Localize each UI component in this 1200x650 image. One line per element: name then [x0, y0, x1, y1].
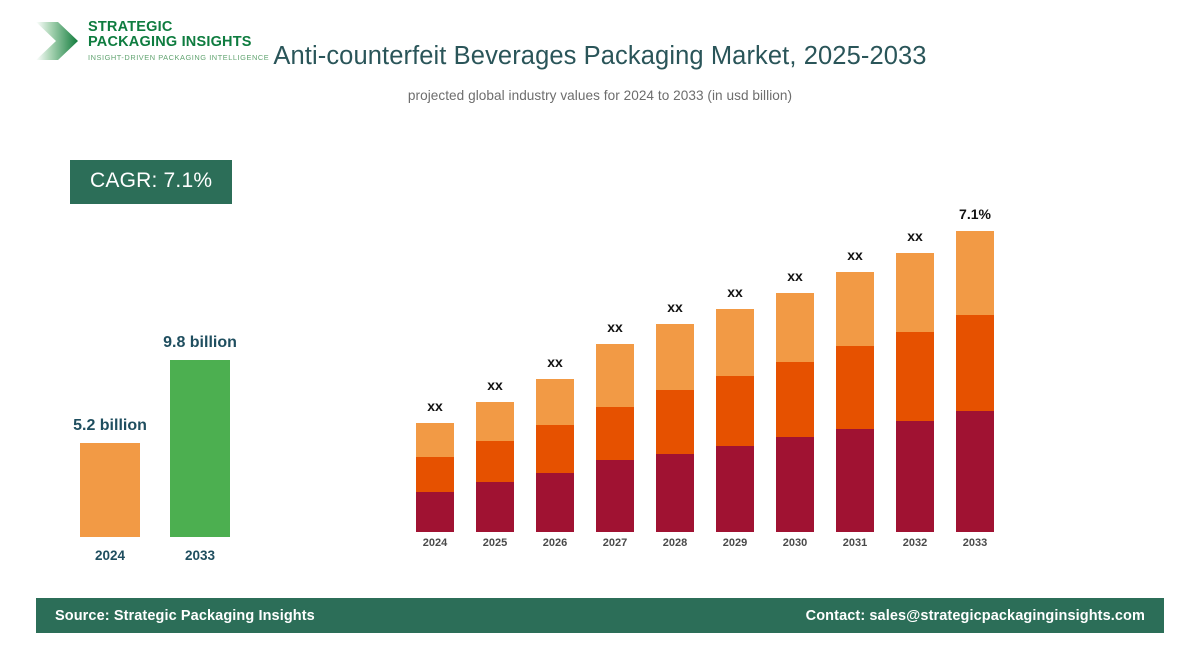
- comparison-year-label-2024: 2024: [60, 548, 160, 563]
- column-segment-segment-3-2029: [716, 309, 754, 376]
- column-segment-segment-3-2030: [776, 293, 814, 362]
- page-title: Anti-counterfeit Beverages Packaging Mar…: [250, 40, 950, 74]
- column-value-label-2029: xx: [727, 284, 743, 300]
- column-segment-segment-1-2024: [416, 492, 454, 532]
- column-value-label-2031: xx: [847, 247, 863, 263]
- column-year-label-2029: 2029: [723, 537, 747, 549]
- yearly-stacked-forecast-chart: xx2024xx2025xx2026xx2027xx2028xx2029xx20…: [405, 195, 1005, 560]
- column-segment-segment-2-2026: [536, 425, 574, 473]
- brand-name-line1: STRATEGIC: [88, 20, 269, 35]
- column-value-label-2025: xx: [487, 377, 503, 393]
- column-year-label-2033: 2033: [963, 537, 987, 549]
- column-segment-segment-2-2029: [716, 376, 754, 446]
- cagr-badge: CAGR: 7.1%: [70, 160, 232, 204]
- column-segment-segment-3-2027: [596, 344, 634, 407]
- column-segment-segment-3-2026: [536, 379, 574, 425]
- column-year-label-2032: 2032: [903, 537, 927, 549]
- column-segment-segment-2-2027: [596, 407, 634, 460]
- footer-bar: Source: Strategic Packaging Insights Con…: [36, 598, 1164, 633]
- column-segment-segment-1-2029: [716, 446, 754, 532]
- column-value-label-2030: xx: [787, 268, 803, 284]
- column-segment-segment-3-2031: [836, 272, 874, 346]
- column-year-label-2026: 2026: [543, 537, 567, 549]
- title-block: Anti-counterfeit Beverages Packaging Mar…: [250, 40, 950, 103]
- column-segment-segment-3-2024: [416, 423, 454, 457]
- column-segment-segment-1-2032: [896, 421, 934, 532]
- column-segment-segment-2-2032: [896, 332, 934, 421]
- comparison-value-label-2033: 9.8 billion: [140, 334, 260, 352]
- column-year-label-2031: 2031: [843, 537, 867, 549]
- column-segment-segment-1-2030: [776, 437, 814, 532]
- column-year-label-2025: 2025: [483, 537, 507, 549]
- column-value-label-2026: xx: [547, 354, 563, 370]
- column-year-label-2028: 2028: [663, 537, 687, 549]
- endpoint-comparison-chart: 5.2 billion20249.8 billion2033: [0, 300, 320, 580]
- column-segment-segment-3-2033: [956, 231, 994, 315]
- stacked-column-2026: xx2026: [536, 379, 574, 532]
- page-subtitle: projected global industry values for 202…: [250, 88, 950, 103]
- column-segment-segment-1-2026: [536, 473, 574, 532]
- stacked-column-2030: xx2030: [776, 293, 814, 532]
- column-value-label-2024: xx: [427, 398, 443, 414]
- brand-wordmark: STRATEGIC PACKAGING INSIGHTS INSIGHT-DRI…: [88, 20, 269, 62]
- footer-contact: Contact: sales@strategicpackaginginsight…: [806, 608, 1145, 624]
- brand-name-line2: PACKAGING INSIGHTS: [88, 35, 269, 50]
- column-segment-segment-2-2024: [416, 457, 454, 492]
- column-segment-segment-1-2027: [596, 460, 634, 532]
- stacked-column-2028: xx2028: [656, 324, 694, 532]
- column-segment-segment-3-2028: [656, 324, 694, 390]
- column-segment-segment-1-2025: [476, 482, 514, 532]
- comparison-value-label-2024: 5.2 billion: [50, 417, 170, 435]
- chevron-logo-icon: [34, 16, 80, 66]
- comparison-bar-2033: [170, 360, 230, 537]
- column-value-label-2027: xx: [607, 319, 623, 335]
- stacked-column-2027: xx2027: [596, 344, 634, 532]
- stacked-column-2033: 7.1%2033: [956, 231, 994, 532]
- column-year-label-2024: 2024: [423, 537, 447, 549]
- column-value-label-2032: xx: [907, 228, 923, 244]
- footer-source: Source: Strategic Packaging Insights: [55, 608, 315, 624]
- comparison-year-label-2033: 2033: [150, 548, 250, 563]
- column-year-label-2030: 2030: [783, 537, 807, 549]
- column-segment-segment-2-2028: [656, 390, 694, 454]
- column-segment-segment-3-2032: [896, 253, 934, 332]
- brand-logo: STRATEGIC PACKAGING INSIGHTS INSIGHT-DRI…: [34, 16, 269, 66]
- brand-tagline: INSIGHT-DRIVEN PACKAGING INTELLIGENCE: [88, 54, 269, 62]
- column-value-label-2033: 7.1%: [959, 206, 991, 222]
- column-segment-segment-1-2028: [656, 454, 694, 532]
- stacked-column-2024: xx2024: [416, 423, 454, 532]
- column-segment-segment-2-2025: [476, 441, 514, 482]
- column-segment-segment-1-2033: [956, 411, 994, 532]
- comparison-bar-2024: [80, 443, 140, 537]
- column-segment-segment-3-2025: [476, 402, 514, 441]
- stacked-column-2031: xx2031: [836, 272, 874, 532]
- column-year-label-2027: 2027: [603, 537, 627, 549]
- column-value-label-2028: xx: [667, 299, 683, 315]
- column-segment-segment-2-2030: [776, 362, 814, 437]
- stacked-column-2029: xx2029: [716, 309, 754, 532]
- column-segment-segment-2-2031: [836, 346, 874, 429]
- column-segment-segment-2-2033: [956, 315, 994, 411]
- stacked-column-2032: xx2032: [896, 253, 934, 532]
- stacked-column-2025: xx2025: [476, 402, 514, 532]
- column-segment-segment-1-2031: [836, 429, 874, 532]
